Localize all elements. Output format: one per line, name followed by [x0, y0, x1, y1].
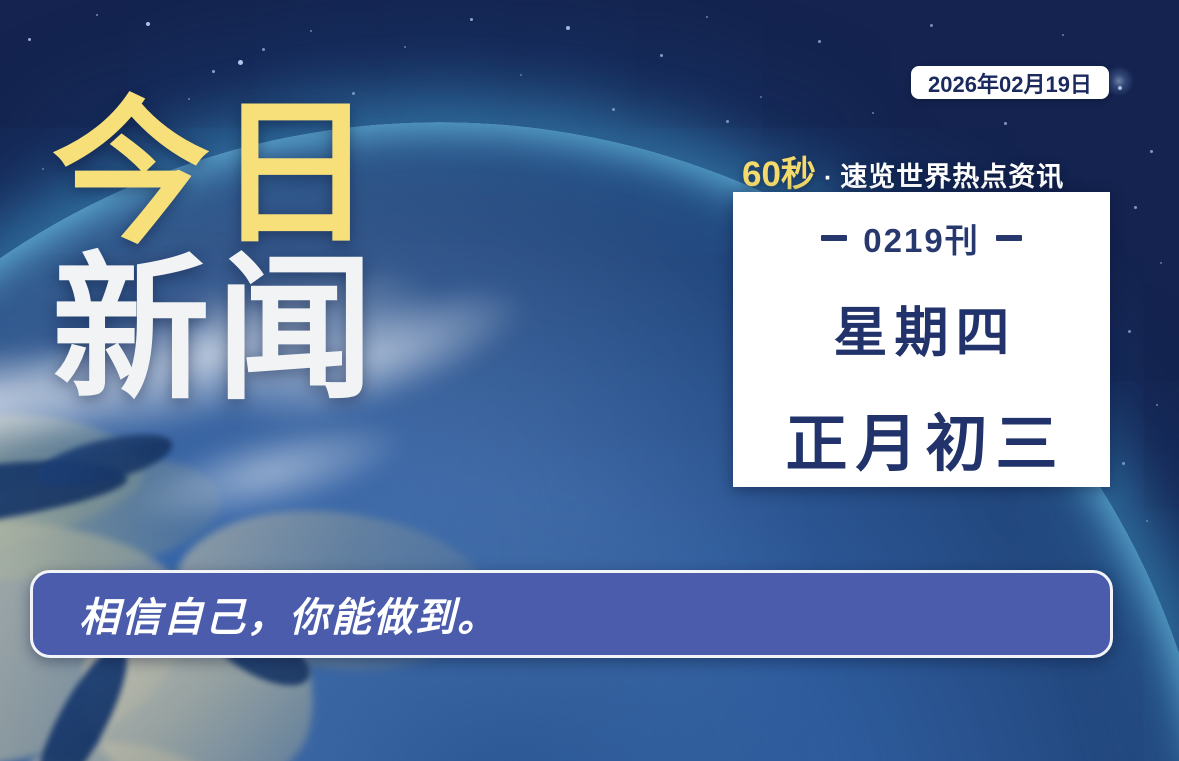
- page-title: 今日 新闻: [52, 98, 672, 406]
- weekday-label: 星期四: [827, 288, 1017, 367]
- quote-banner: 相信自己，你能做到。: [30, 570, 1113, 658]
- issue-number: 0219刊: [863, 214, 979, 262]
- title-line-news: 新闻: [52, 254, 672, 406]
- tagline-description: 速览世界热点资讯: [840, 155, 1064, 194]
- tagline: 60秒 · 速览世界热点资讯: [742, 146, 1064, 197]
- dash-left-icon: [821, 235, 847, 241]
- news-poster: 今日 新闻 2026年02月19日 60秒 · 速览世界热点资讯 0219刊 星…: [0, 0, 1179, 761]
- lunar-date-label: 正月初三: [777, 393, 1065, 483]
- issue-row: 0219刊: [821, 214, 1021, 262]
- tagline-separator: ·: [824, 164, 832, 193]
- title-line-today: 今日: [52, 98, 672, 250]
- info-card: 0219刊 星期四 正月初三: [733, 192, 1110, 487]
- tagline-duration: 60秒: [742, 146, 816, 197]
- date-badge: 2026年02月19日: [911, 66, 1109, 99]
- quote-text: 相信自己，你能做到。: [79, 585, 499, 643]
- dash-right-icon: [996, 235, 1022, 241]
